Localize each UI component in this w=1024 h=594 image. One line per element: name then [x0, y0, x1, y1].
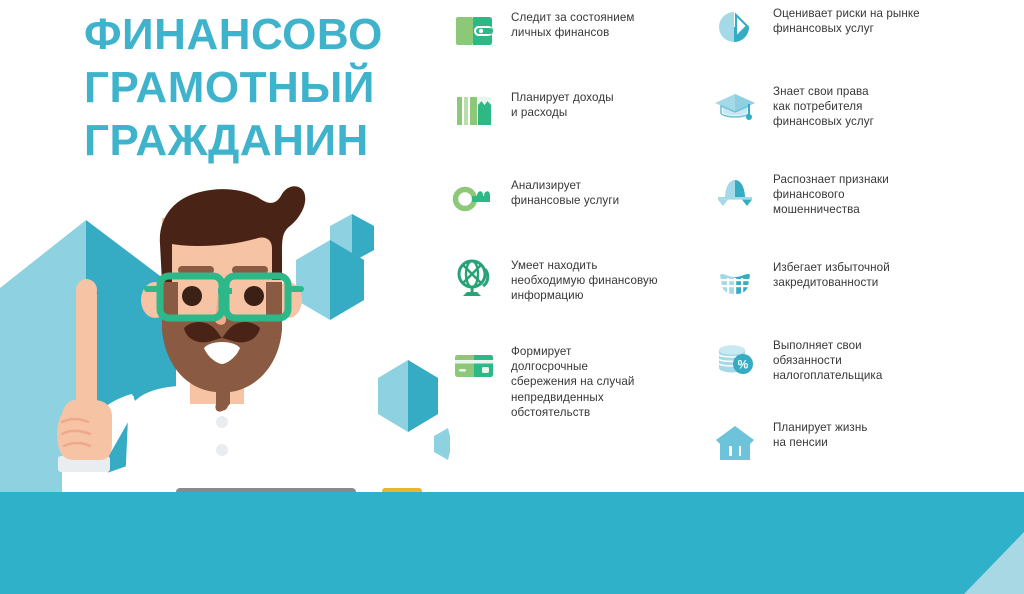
- svg-text:%: %: [738, 358, 749, 372]
- shirt-button-1: [216, 416, 228, 428]
- coins-percent-icon: %: [713, 336, 759, 382]
- feature-item-label: Планирует жизнь на пенсии: [773, 418, 868, 450]
- house-icon: [713, 418, 759, 464]
- feature-item-label: Формирует долгосрочные сбережения на слу…: [511, 342, 635, 420]
- feature-item-label: Анализирует финансовые услуги: [511, 176, 619, 208]
- books-icon: [451, 88, 497, 134]
- character-eye-right: [244, 286, 264, 306]
- feature-item-label: Планирует доходы и расходы: [511, 88, 614, 120]
- pie-chart-icon: [713, 4, 759, 50]
- key-icon: [451, 176, 497, 222]
- feature-item-label: Избегает избыточной закредитованности: [773, 258, 890, 290]
- feature-item-house: Планирует жизнь на пенсии: [713, 418, 1013, 464]
- wallet-icon: [451, 8, 497, 54]
- detective-hat-icon: [713, 170, 759, 216]
- feature-item-globe: Умеет находить необходимую финансовую ин…: [451, 256, 703, 304]
- feature-item-credit-card: Формирует долгосрочные сбережения на слу…: [451, 342, 703, 420]
- bottom-corner-triangle: [964, 532, 1024, 594]
- feature-item-pie-chart: Оценивает риски на рынке финансовых услу…: [713, 4, 1013, 50]
- feature-item-books: Планирует доходы и расходы: [451, 88, 703, 134]
- globe-icon: [451, 256, 497, 302]
- bottom-teal-bar: [0, 492, 1024, 594]
- graduation-cap-icon: [713, 82, 759, 128]
- feature-item-label: Распознает признаки финансового мошеннич…: [773, 170, 889, 218]
- feature-item-coins-percent: % Выполняет свои обязанности налогоплате…: [713, 336, 1013, 384]
- feature-item-label: Знает свои права как потребителя финансо…: [773, 82, 874, 130]
- character-eye-left: [182, 286, 202, 306]
- feature-item-label: Выполняет свои обязанности налогоплатель…: [773, 336, 882, 384]
- feature-item-label: Оценивает риски на рынке финансовых услу…: [773, 4, 920, 36]
- feature-item-key: Анализирует финансовые услуги: [451, 176, 703, 222]
- feature-columns: Следит за состоянием личных финансов Пла…: [445, 0, 1024, 492]
- credit-card-icon: [451, 342, 497, 388]
- feature-item-label: Следит за состоянием личных финансов: [511, 8, 634, 40]
- feature-item-wallet: Следит за состоянием личных финансов: [451, 8, 703, 54]
- feature-item-shopping-basket: Избегает избыточной закредитованности: [713, 258, 1013, 304]
- infographic-poster: ФИНАНСОВО ГРАМОТНЫЙ ГРАЖДАНИН: [0, 0, 1024, 594]
- shopping-basket-icon: [713, 258, 759, 304]
- shirt-button-2: [216, 444, 228, 456]
- page-title: ФИНАНСОВО ГРАМОТНЫЙ ГРАЖДАНИН: [84, 8, 434, 167]
- feature-item-graduation-cap: Знает свои права как потребителя финансо…: [713, 82, 1013, 130]
- character-hand-pointing: [57, 279, 112, 460]
- feature-item-detective-hat: Распознает признаки финансового мошеннич…: [713, 170, 1013, 218]
- feature-item-label: Умеет находить необходимую финансовую ин…: [511, 256, 658, 304]
